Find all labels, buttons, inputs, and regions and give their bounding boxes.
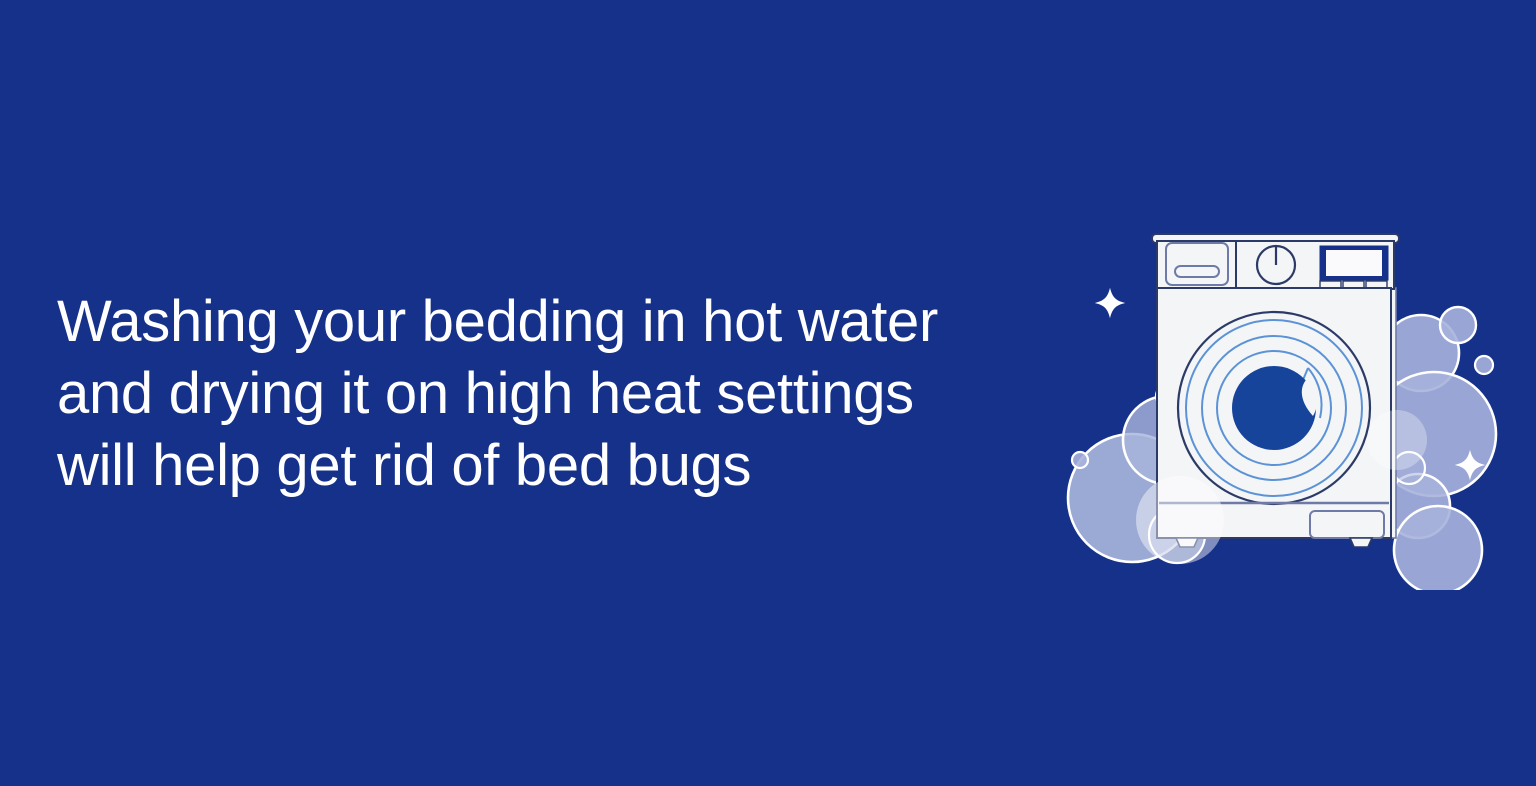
control-panel <box>1152 234 1399 289</box>
bubble <box>1475 356 1493 374</box>
filter-hatch[interactable] <box>1310 511 1384 538</box>
washing-machine-svg <box>1040 190 1520 590</box>
washing-machine-illustration <box>1040 190 1520 590</box>
display-screen[interactable] <box>1320 246 1388 280</box>
drum-door[interactable] <box>1178 312 1370 504</box>
bubble <box>1136 476 1224 564</box>
detergent-drawer[interactable] <box>1166 243 1228 285</box>
dial-knob[interactable] <box>1257 246 1295 284</box>
bubble <box>1394 506 1482 590</box>
drawer-handle-slot <box>1175 266 1219 277</box>
drum-center-hole <box>1232 366 1316 450</box>
bubble <box>1367 410 1427 470</box>
bubble <box>1440 307 1476 343</box>
bubble <box>1072 452 1088 468</box>
banner-graphic: Washing your bedding in hot water and dr… <box>0 0 1536 786</box>
sparkle-left-icon <box>1095 288 1125 318</box>
page-title: Washing your bedding in hot water and dr… <box>57 286 1067 502</box>
